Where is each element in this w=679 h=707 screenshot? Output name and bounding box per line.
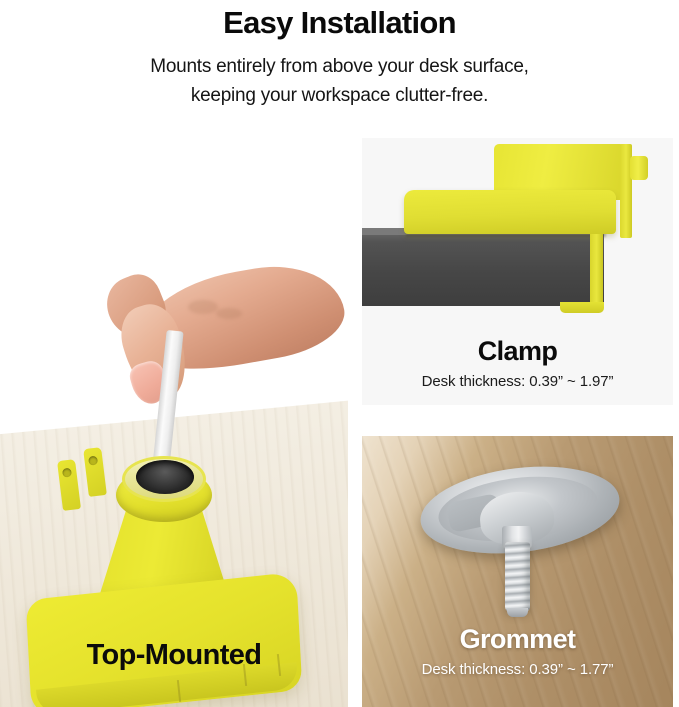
- panel-grommet: Grommet Desk thickness: 0.39” ~ 1.77”: [362, 436, 673, 707]
- threaded-bolt: [505, 542, 530, 612]
- bolt-tip: [507, 608, 528, 617]
- grommet-label: Grommet: [362, 622, 673, 656]
- clamp-jaw-foot: [560, 302, 604, 313]
- clamp-top-pad: [404, 190, 616, 234]
- clamp-illustration: [362, 138, 673, 328]
- panel-clamp: Clamp Desk thickness: 0.39” ~ 1.97”: [362, 138, 673, 405]
- hand-illustration: [96, 278, 336, 403]
- top-mounted-caption: Top-Mounted: [0, 638, 348, 672]
- clamp-adjust-knob: [630, 156, 648, 180]
- panel-top-mounted: Top-Mounted: [0, 138, 348, 707]
- grommet-caption: Grommet Desk thickness: 0.39” ~ 1.77”: [362, 622, 673, 680]
- subtitle-line-2: keeping your workspace clutter-free.: [0, 81, 679, 110]
- page-title: Easy Installation: [0, 2, 679, 44]
- clamp-label: Clamp: [362, 334, 673, 368]
- pole-socket-hole: [136, 460, 194, 494]
- top-mounted-label: Top-Mounted: [0, 638, 348, 672]
- clamp-caption: Clamp Desk thickness: 0.39” ~ 1.97”: [362, 334, 673, 392]
- clamp-desk-thickness: Desk thickness: 0.39” ~ 1.97”: [362, 371, 673, 392]
- clip-hole: [88, 456, 98, 466]
- page-subtitle: Mounts entirely from above your desk sur…: [0, 52, 679, 110]
- header: Easy Installation Mounts entirely from a…: [0, 0, 679, 132]
- grommet-desk-thickness: Desk thickness: 0.39” ~ 1.77”: [362, 659, 673, 680]
- knuckle-crease: [188, 300, 218, 314]
- infographic-page: Easy Installation Mounts entirely from a…: [0, 0, 679, 707]
- subtitle-line-1: Mounts entirely from above your desk sur…: [0, 52, 679, 81]
- desk-edge-dark: [362, 228, 604, 306]
- knuckle-crease: [216, 308, 242, 319]
- clip-hole: [62, 468, 72, 478]
- clamp-lower-jaw: [590, 234, 603, 312]
